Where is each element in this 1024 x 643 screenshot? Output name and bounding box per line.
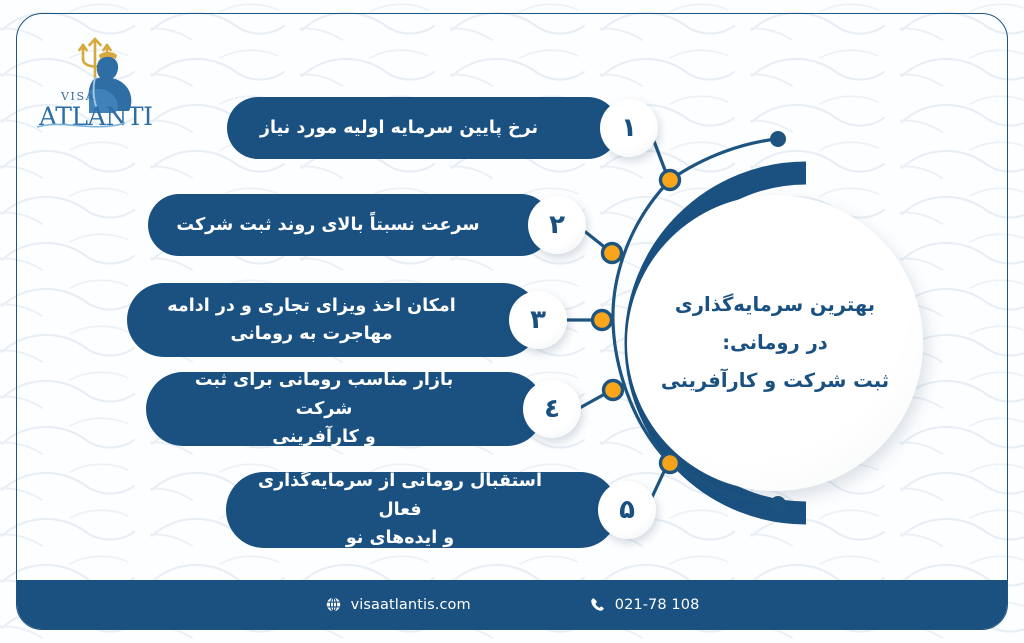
- items-layer: نرخ پایین سرمایه اولیه مورد نیاز ۱ سرعت …: [0, 0, 1024, 643]
- item-text-4-line-2: و کارآفرینی: [262, 423, 386, 451]
- item-number-4: ٤: [523, 380, 581, 438]
- item-number-label-2: ۲: [549, 210, 565, 240]
- item-number-label-1: ۱: [621, 113, 637, 143]
- item-pill-1[interactable]: نرخ پایین سرمایه اولیه مورد نیاز: [227, 97, 619, 159]
- item-number-5: ۵: [598, 481, 656, 539]
- item-pill-3[interactable]: امکان اخذ ویزای تجاری و در ادامه مهاجرت …: [127, 283, 540, 357]
- item-number-1: ۱: [600, 99, 658, 157]
- item-number-3: ۳: [509, 291, 567, 349]
- item-number-label-3: ۳: [530, 305, 546, 335]
- item-text-1: نرخ پایین سرمایه اولیه مورد نیاز: [250, 114, 548, 142]
- item-text-4-line-1: بازار مناسب رومانی برای ثبت شرکت: [160, 366, 488, 423]
- item-text-5-line-2: و ایده‌های نو: [336, 524, 464, 552]
- item-pill-4[interactable]: بازار مناسب رومانی برای ثبت شرکت و کارآف…: [146, 372, 544, 446]
- item-number-2: ۲: [528, 196, 586, 254]
- item-pill-2[interactable]: سرعت نسبتاً بالای روند ثبت شرکت: [148, 194, 552, 256]
- item-number-label-5: ۵: [619, 495, 635, 525]
- item-pill-5[interactable]: استقبال رومانی از سرمایه‌گذاری فعال و ای…: [226, 472, 618, 548]
- item-number-label-4: ٤: [544, 394, 560, 424]
- item-text-5-line-1: استقبال رومانی از سرمایه‌گذاری فعال: [240, 467, 560, 524]
- infographic-page: VISA ATLANTIS: [0, 0, 1024, 643]
- item-text-2: سرعت نسبتاً بالای روند ثبت شرکت: [166, 211, 489, 239]
- item-text-3-line-2: مهاجرت به رومانی: [220, 320, 402, 348]
- item-text-3-line-1: امکان اخذ ویزای تجاری و در ادامه: [157, 292, 465, 320]
